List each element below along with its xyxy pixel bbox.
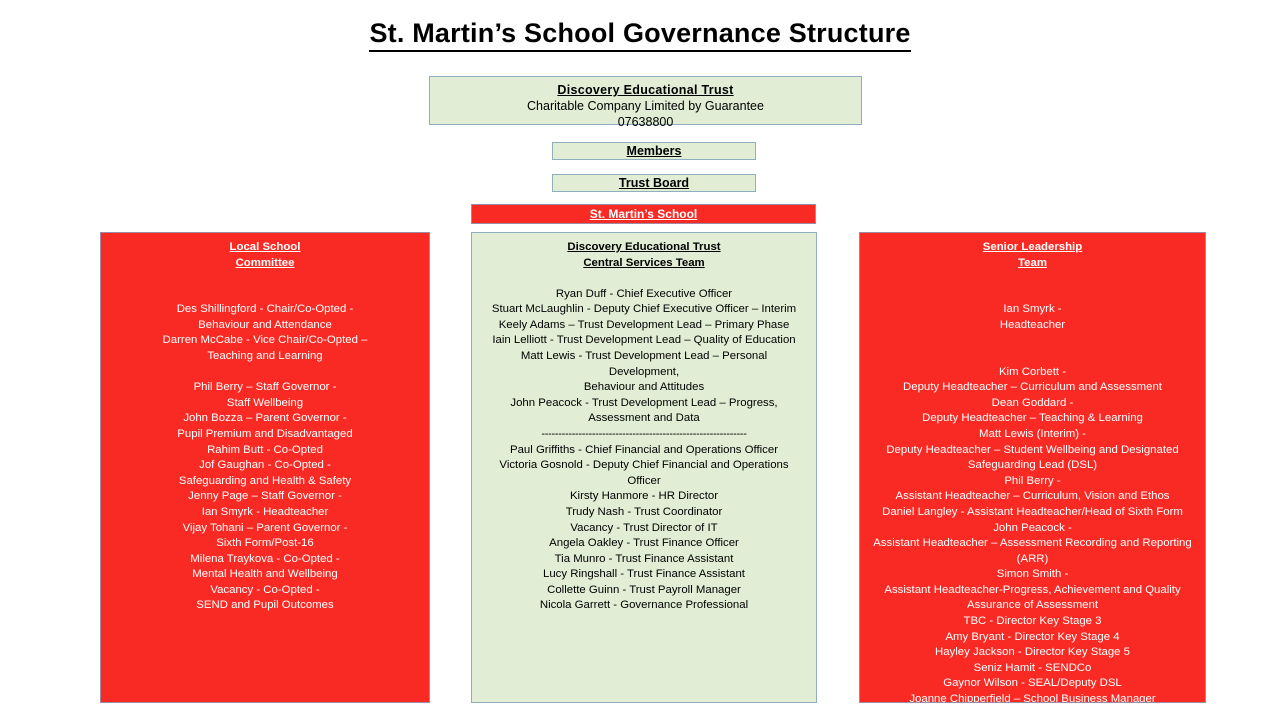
- list-item: Sixth Form/Post-16: [105, 536, 425, 552]
- list-item: Kirsty Hanmore - HR Director: [476, 489, 812, 505]
- list-item: Matt Lewis - Trust Development Lead – Pe…: [476, 349, 812, 365]
- lsc-heading-line-1: Local School: [230, 241, 301, 253]
- list-item: Angela Oakley - Trust Finance Officer: [476, 536, 812, 552]
- members-label: Members: [627, 144, 682, 158]
- trust-root-line-2: 07638800: [430, 114, 861, 130]
- list-item: Development,: [476, 365, 812, 381]
- slt-heading-line-2: Team: [1018, 257, 1047, 269]
- list-item: Dean Goddard -: [864, 396, 1201, 412]
- list-spacer: [864, 287, 1201, 303]
- list-item: Victoria Gosnold - Deputy Chief Financia…: [476, 458, 812, 474]
- list-item: Assessment and Data: [476, 411, 812, 427]
- list-item: Des Shillingford - Chair/Co-Opted -: [105, 302, 425, 318]
- list-item: Safeguarding and Health & Safety: [105, 474, 425, 490]
- list-separator: ----------------------------------------…: [476, 427, 812, 443]
- list-item: Tia Munro - Trust Finance Assistant: [476, 552, 812, 568]
- list-item: Keely Adams – Trust Development Lead – P…: [476, 318, 812, 334]
- list-item: Pupil Premium and Disadvantaged: [105, 427, 425, 443]
- trust-root-box: Discovery Educational Trust Charitable C…: [429, 76, 862, 125]
- column-local-school-committee: Local School Committee Des Shillingford …: [100, 232, 430, 703]
- central-services-list: Ryan Duff - Chief Executive OfficerStuar…: [476, 271, 812, 614]
- list-item: Kim Corbett -: [864, 365, 1201, 381]
- list-item: Amy Bryant - Director Key Stage 4: [864, 630, 1201, 646]
- list-item: Ian Smyrk - Headteacher: [105, 505, 425, 521]
- list-item: Deputy Headteacher – Student Wellbeing a…: [864, 443, 1201, 459]
- list-spacer: [105, 287, 425, 303]
- list-item: Nicola Garrett - Governance Professional: [476, 598, 812, 614]
- list-item: Vijay Tohani – Parent Governor -: [105, 521, 425, 537]
- central-services-heading: Discovery Educational Trust Central Serv…: [476, 239, 812, 271]
- list-item: John Peacock - Trust Development Lead – …: [476, 396, 812, 412]
- list-item: Deputy Headteacher – Teaching & Learning: [864, 411, 1201, 427]
- list-item: Assistant Headteacher – Assessment Recor…: [864, 536, 1201, 552]
- list-item: Iain Lelliott - Trust Development Lead –…: [476, 333, 812, 349]
- list-item: Milena Traykova - Co-Opted -: [105, 552, 425, 568]
- school-banner: St. Martin’s School: [471, 204, 816, 224]
- list-spacer: [476, 271, 812, 287]
- trust-root-line-1: Charitable Company Limited by Guarantee: [430, 98, 861, 114]
- lsc-heading-line-2: Committee: [236, 257, 295, 269]
- list-item: Behaviour and Attendance: [105, 318, 425, 334]
- list-spacer: [105, 365, 425, 381]
- senior-leadership-list: Ian Smyrk -HeadteacherKim Corbett -Deput…: [864, 271, 1201, 703]
- list-item: John Bozza – Parent Governor -: [105, 411, 425, 427]
- list-item: Behaviour and Attitudes: [476, 380, 812, 396]
- list-item: (ARR): [864, 552, 1201, 568]
- trust-board-label: Trust Board: [619, 176, 689, 190]
- list-item: Teaching and Learning: [105, 349, 425, 365]
- list-item: John Peacock -: [864, 521, 1201, 537]
- members-box: Members: [552, 142, 756, 160]
- list-item: Trudy Nash - Trust Coordinator: [476, 505, 812, 521]
- list-item: Mental Health and Wellbeing: [105, 567, 425, 583]
- list-item: Rahim Butt - Co-Opted: [105, 443, 425, 459]
- list-item: Jof Gaughan - Co-Opted -: [105, 458, 425, 474]
- list-item: Vacancy - Co-Opted -: [105, 583, 425, 599]
- list-item: Matt Lewis (Interim) -: [864, 427, 1201, 443]
- column-central-services-team: Discovery Educational Trust Central Serv…: [471, 232, 817, 703]
- list-item: Phil Berry -: [864, 474, 1201, 490]
- school-banner-label: St. Martin’s School: [590, 207, 698, 221]
- list-item: Safeguarding Lead (DSL): [864, 458, 1201, 474]
- list-item: Headteacher: [864, 318, 1201, 334]
- list-item: Ryan Duff - Chief Executive Officer: [476, 287, 812, 303]
- page-title: St. Martin’s School Governance Structure: [0, 18, 1280, 49]
- list-item: Assistant Headteacher-Progress, Achievem…: [864, 583, 1201, 599]
- list-spacer: [864, 333, 1201, 349]
- list-item: Stuart McLaughlin - Deputy Chief Executi…: [476, 302, 812, 318]
- cst-heading-line-2: Central Services Team: [583, 257, 704, 269]
- list-item: Collette Guinn - Trust Payroll Manager: [476, 583, 812, 599]
- list-item: Simon Smith -: [864, 567, 1201, 583]
- cst-heading-line-1: Discovery Educational Trust: [567, 241, 720, 253]
- list-spacer: [105, 271, 425, 287]
- senior-leadership-heading: Senior Leadership Team: [864, 239, 1201, 271]
- list-spacer: [864, 349, 1201, 365]
- list-item: Seniz Hamit - SENDCo: [864, 661, 1201, 677]
- list-item: Ian Smyrk -: [864, 302, 1201, 318]
- list-item: Deputy Headteacher – Curriculum and Asse…: [864, 380, 1201, 396]
- list-item: Gaynor Wilson - SEAL/Deputy DSL: [864, 676, 1201, 692]
- list-item: Darren McCabe - Vice Chair/Co-Opted –: [105, 333, 425, 349]
- trust-root-heading: Discovery Educational Trust: [430, 82, 861, 98]
- list-item: Lucy Ringshall - Trust Finance Assistant: [476, 567, 812, 583]
- list-item: Assistant Headteacher – Curriculum, Visi…: [864, 489, 1201, 505]
- list-item: Jenny Page – Staff Governor -: [105, 489, 425, 505]
- trust-board-box: Trust Board: [552, 174, 756, 192]
- list-item: Paul Griffiths - Chief Financial and Ope…: [476, 443, 812, 459]
- local-school-committee-heading: Local School Committee: [105, 239, 425, 271]
- list-item: Officer: [476, 474, 812, 490]
- list-item: Daniel Langley - Assistant Headteacher/H…: [864, 505, 1201, 521]
- list-item: Phil Berry – Staff Governor -: [105, 380, 425, 396]
- list-item: Vacancy - Trust Director of IT: [476, 521, 812, 537]
- list-item: Hayley Jackson - Director Key Stage 5: [864, 645, 1201, 661]
- page-title-text: St. Martin’s School Governance Structure: [369, 18, 910, 52]
- list-item: SEND and Pupil Outcomes: [105, 598, 425, 614]
- list-item: TBC - Director Key Stage 3: [864, 614, 1201, 630]
- list-item: Assurance of Assessment: [864, 598, 1201, 614]
- slt-heading-line-1: Senior Leadership: [983, 241, 1082, 253]
- local-school-committee-list: Des Shillingford - Chair/Co-Opted -Behav…: [105, 271, 425, 614]
- list-item: Staff Wellbeing: [105, 396, 425, 412]
- list-item: Joanne Chipperfield – School Business Ma…: [864, 692, 1201, 703]
- column-senior-leadership-team: Senior Leadership Team Ian Smyrk -Headte…: [859, 232, 1206, 703]
- list-spacer: [864, 271, 1201, 287]
